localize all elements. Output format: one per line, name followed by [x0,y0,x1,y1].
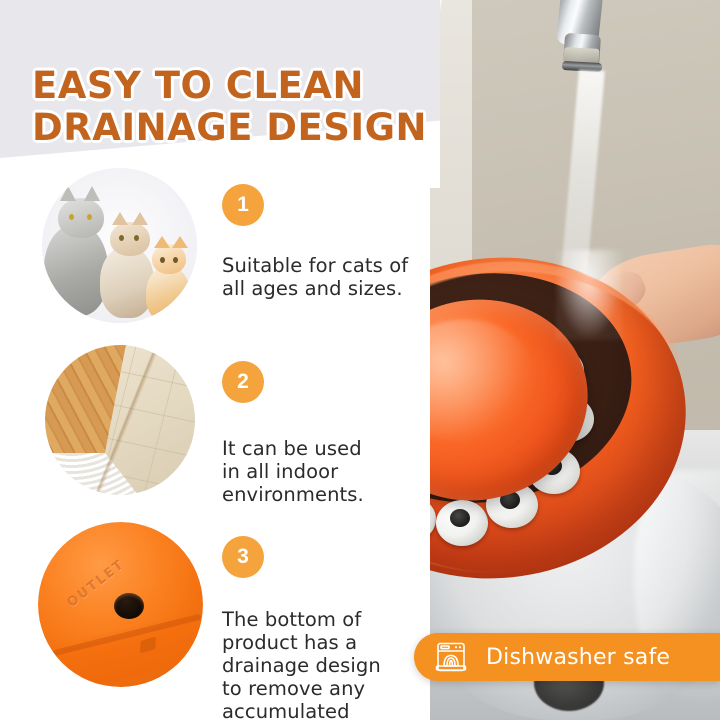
cat-ear [112,212,128,225]
feature-number-1: 1 [222,184,264,226]
cat-ear [172,236,188,248]
three-cats-photo [42,168,197,323]
drain-hole [114,593,144,619]
cat-eye [173,257,178,263]
dishwasher-icon [434,640,468,674]
cat-eye [69,214,74,220]
cat-eye [160,257,165,263]
cat-ear [60,186,76,201]
floor-divider-edge [45,345,195,495]
feature-number-3: 3 [222,536,264,578]
feature-text-3: The bottom of product has a drainage des… [222,608,422,720]
dishwasher-safe-label: Dishwasher safe [486,645,670,670]
cat-head [152,244,186,274]
feature-number-2: 2 [222,361,264,403]
cat-head [58,198,104,238]
infographic-page: EASY TO CLEAN DRAINAGE DESIGN [0,0,720,720]
cat-ear [84,186,100,201]
drainage-lid-photo: OUTLET [38,522,203,687]
cat-ear [154,236,170,248]
content-panel: EASY TO CLEAN DRAINAGE DESIGN [0,0,470,720]
cat-eye [87,214,92,220]
indoor-flooring-photo [45,345,195,495]
feature-text-2: It can be used in all indoor environment… [222,437,422,506]
cat-ear [132,212,148,225]
dishwasher-safe-badge: Dishwasher safe [414,633,720,681]
page-title: EASY TO CLEAN DRAINAGE DESIGN [32,65,427,149]
cat-eye [119,235,124,241]
cat-kitten [146,238,192,318]
feature-text-1: Suitable for cats of all ages and sizes. [222,254,422,300]
cat-head [110,222,150,256]
cat-eye [134,235,139,241]
cat-body [146,266,190,322]
